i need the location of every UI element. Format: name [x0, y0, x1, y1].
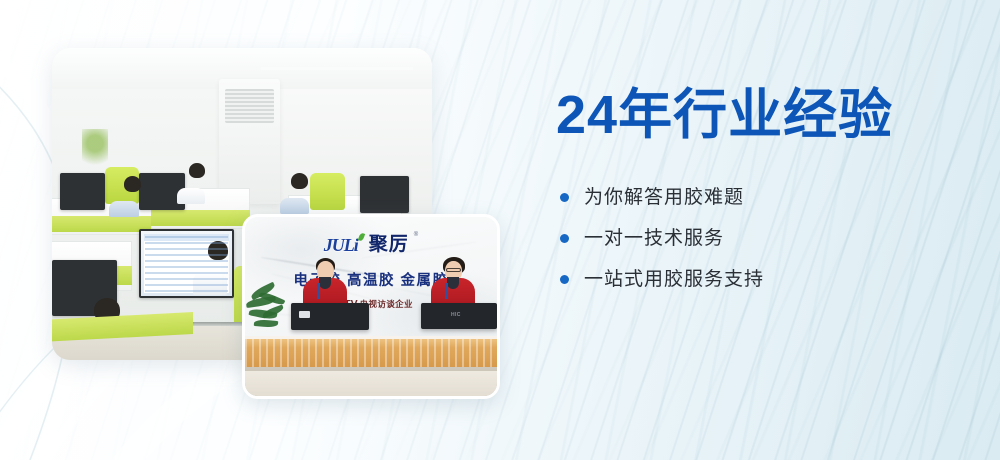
monitor-right: HIC: [421, 303, 497, 329]
benefit-item-1: 为你解答用胶难题: [560, 188, 956, 207]
logo-text-en: JULi: [324, 236, 358, 254]
reception-counter: [245, 337, 497, 367]
benefit-item-2: 一对一技术服务: [560, 229, 956, 248]
promo-banner: JULi 聚厉 ® 电子胶 高温胶 金属胶 CCTV.央视访谈企业: [0, 0, 1000, 460]
benefit-label: 为你解答用胶难题: [584, 188, 744, 207]
monitor-brand-label: HIC: [451, 312, 461, 318]
bullet-dot-icon: [560, 275, 569, 284]
reception-scene: JULi 聚厉 ® 电子胶 高温胶 金属胶 CCTV.央视访谈企业: [245, 217, 497, 396]
benefits-list: 为你解答用胶难题 一对一技术服务 一站式用胶服务支持: [560, 188, 956, 289]
headline: 24年行业经验: [556, 86, 956, 144]
monitor-left: [291, 303, 369, 330]
leaf-icon: [358, 233, 365, 242]
bullet-dot-icon: [560, 193, 569, 202]
bullet-dot-icon: [560, 234, 569, 243]
company-logo: JULi 聚厉 ®: [295, 231, 446, 258]
benefit-label: 一对一技术服务: [584, 229, 724, 248]
logo-text-cn: 聚厉: [369, 235, 409, 254]
benefit-label: 一站式用胶服务支持: [584, 270, 764, 289]
reception-photo: JULi 聚厉 ® 电子胶 高温胶 金属胶 CCTV.央视访谈企业: [242, 214, 500, 399]
benefit-item-3: 一站式用胶服务支持: [560, 270, 956, 289]
trademark-symbol: ®: [414, 232, 418, 238]
copy-block: 24年行业经验 为你解答用胶难题 一对一技术服务 一站式用胶服务支持: [556, 86, 956, 289]
